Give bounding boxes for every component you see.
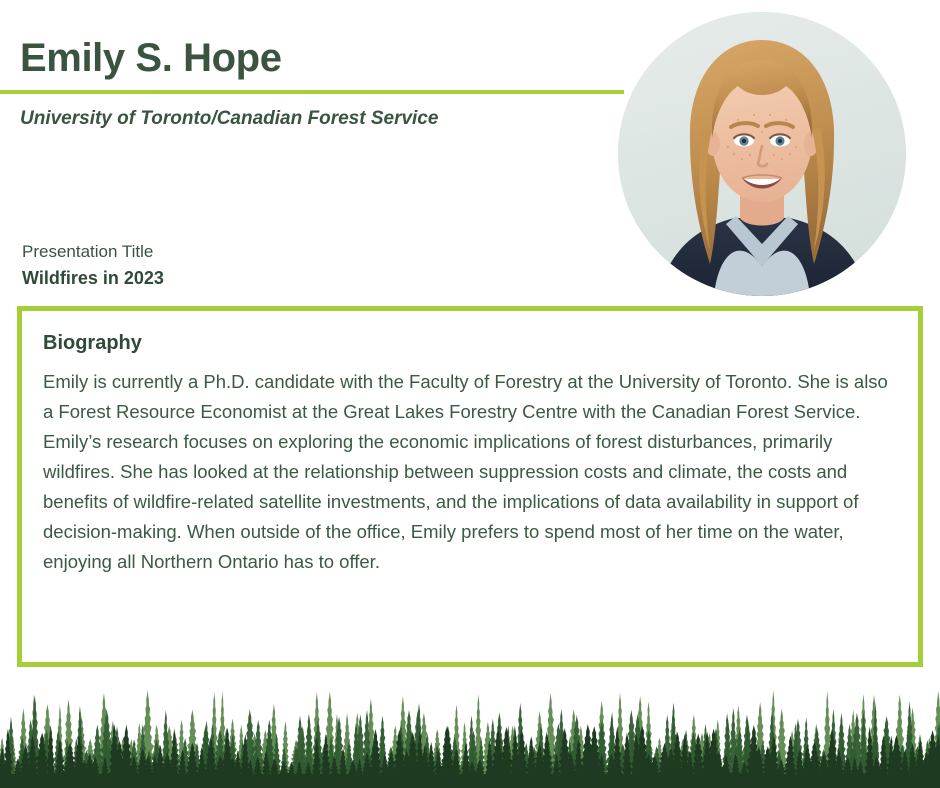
biography-heading: Biography bbox=[43, 332, 142, 355]
presentation-title-value: Wildfires in 2023 bbox=[22, 265, 164, 291]
biography-text: Emily is currently a Ph.D. candidate wit… bbox=[43, 367, 898, 577]
biography-panel: Biography Emily is currently a Ph.D. can… bbox=[17, 306, 923, 667]
page-title: Emily S. Hope bbox=[20, 38, 282, 78]
forest-treeline-band bbox=[0, 670, 940, 788]
portrait-photo-icon bbox=[618, 12, 906, 296]
header-divider-rule bbox=[0, 90, 624, 94]
affiliation-text: University of Toronto/Canadian Forest Se… bbox=[20, 108, 438, 131]
avatar bbox=[618, 12, 906, 296]
presentation-block: Presentation Title Wildfires in 2023 bbox=[22, 240, 164, 291]
presentation-title-label: Presentation Title bbox=[22, 240, 164, 265]
conifer-treeline-icon bbox=[0, 670, 940, 788]
